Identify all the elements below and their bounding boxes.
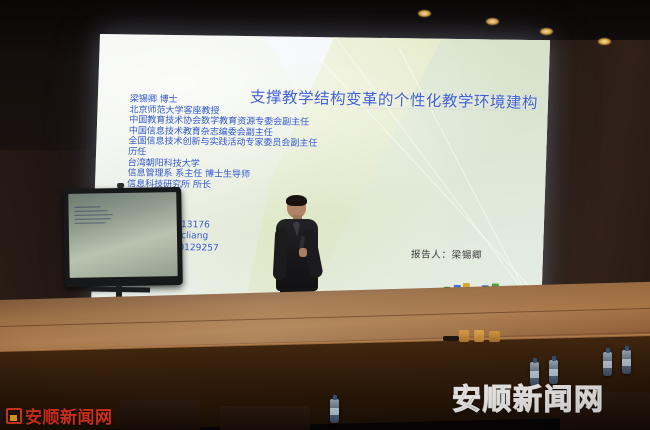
logo-mark-icon [6, 408, 22, 424]
slide-presenter-label: 报告人：梁锡卿 [411, 246, 483, 261]
monitor-camera-icon [117, 183, 124, 188]
person-hand [299, 248, 307, 257]
audience-seat-left [120, 400, 200, 430]
water-bottle-1 [330, 399, 339, 423]
water-bottle-4 [603, 352, 612, 376]
watermark-center: 安顺新闻网 [452, 376, 605, 418]
confidence-monitor [63, 187, 183, 287]
ceiling-light [540, 28, 553, 35]
water-bottle-5 [622, 350, 631, 374]
stage-prop-cable [443, 336, 459, 341]
person-arm-left [273, 228, 289, 281]
monitor-text-lines [74, 206, 112, 227]
screenshot-root: 支撑教学结构变革的个性化教学环境建构 梁锡卿 博士北京师范大学客座教授中国教育技… [0, 0, 650, 430]
stage-prop-bottle-amber-2 [474, 330, 484, 342]
monitor-screen [68, 192, 177, 278]
watermark-logo: 安顺新闻网 [6, 403, 113, 428]
audience-seat-center [220, 406, 310, 430]
watermark-logo-text: 安顺新闻网 [25, 403, 113, 428]
stage-prop-bottle-amber-3 [489, 331, 500, 342]
stage-prop-bottle-amber-1 [459, 330, 469, 342]
ceiling-light [598, 38, 611, 45]
person-glasses [288, 204, 305, 208]
ceiling-light [486, 18, 499, 25]
ceiling-light [418, 10, 431, 17]
